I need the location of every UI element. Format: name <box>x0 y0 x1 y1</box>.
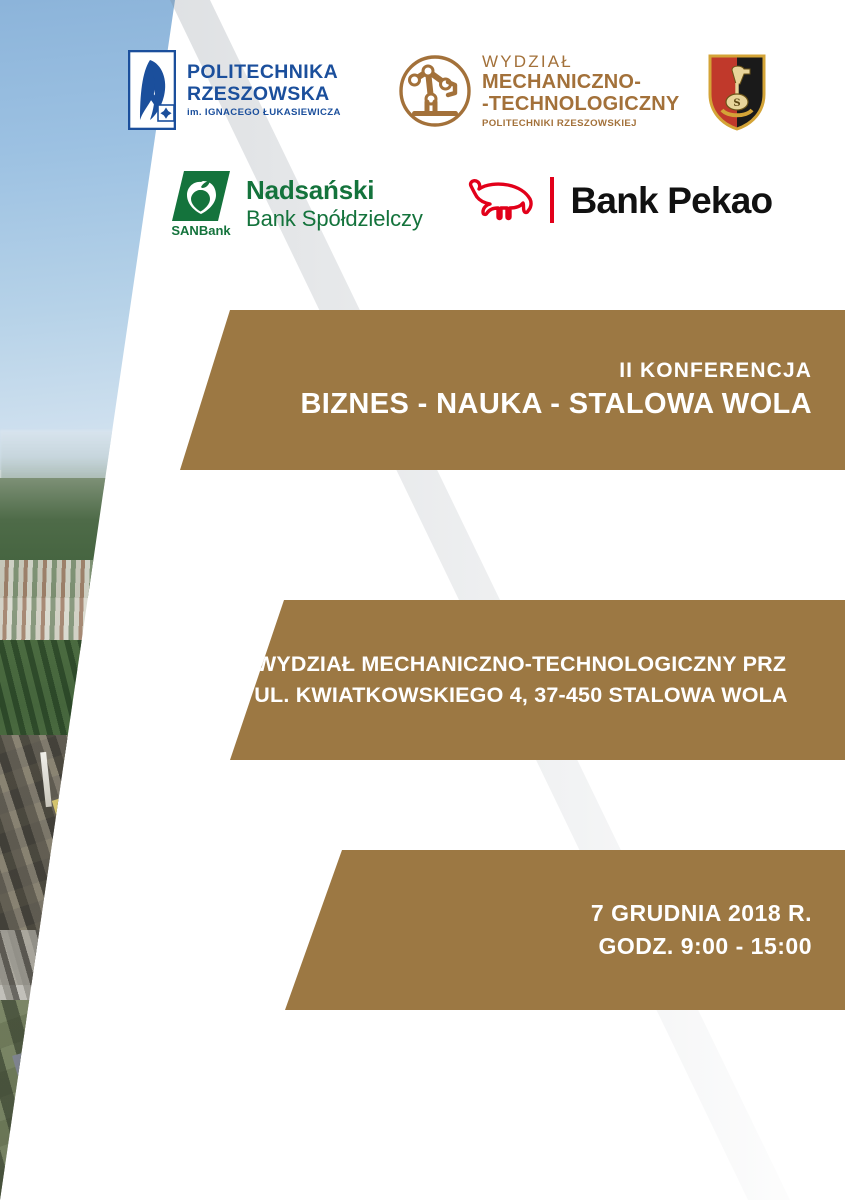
prz-line-3: im. IGNACEGO ŁUKASIEWICZA <box>187 107 341 118</box>
conference-kicker: II KONFERENCJA <box>619 359 812 384</box>
robot-arm-icon <box>398 54 472 128</box>
logo-stalowa-wola-shield[interactable]: S <box>706 50 768 132</box>
venue-line-2: UL. KWIATKOWSKIEGO 4, 37-450 STALOWA WOL… <box>254 683 787 708</box>
wmt-line-2: MECHANICZNO- <box>482 71 679 93</box>
banner-date-time: 7 GRUDNIA 2018 R. GODZ. 9:00 - 15:00 <box>285 850 845 1010</box>
sanbank-apple-icon: SANBank <box>170 169 236 239</box>
conference-headline: BIZNES - NAUKA - STALOWA WOLA <box>300 387 812 421</box>
photo-brick-building <box>33 1089 134 1164</box>
heraldic-shield-icon: S <box>706 50 768 132</box>
sanbank-line-2: Bank Spółdzielczy <box>246 206 423 231</box>
bison-icon <box>460 177 540 223</box>
photo-yellow-building <box>52 766 184 858</box>
logo-politechnika-rzeszowska[interactable]: POLITECHNIKA RZESZOWSKA im. IGNACEGO ŁUK… <box>128 50 341 130</box>
pekao-divider <box>550 177 554 223</box>
wmt-line-3: -TECHNOLOGICZNY <box>482 93 679 115</box>
sponsor-logos-row-1: POLITECHNIKA RZESZOWSKA im. IGNACEGO ŁUK… <box>0 42 845 147</box>
sanbank-wordmark: Nadsański Bank Spółdzielczy <box>246 176 423 231</box>
pekao-wordmark: Bank Pekao <box>571 182 773 219</box>
prz-line-1: POLITECHNIKA <box>187 62 341 84</box>
time-line: GODZ. 9:00 - 15:00 <box>598 933 812 960</box>
sanbank-line-1: Nadsański <box>246 176 423 205</box>
sanbank-icon-label: SANBank <box>171 223 231 238</box>
logo-wydzial-mechaniczno-technologiczny[interactable]: WYDZIAŁ MECHANICZNO- -TECHNOLOGICZNY POL… <box>398 52 679 129</box>
banner-venue-address: WYDZIAŁ MECHANICZNO-TECHNOLOGICZNY PRZ U… <box>230 600 845 760</box>
date-line: 7 GRUDNIA 2018 R. <box>591 900 812 927</box>
wmt-wordmark: WYDZIAŁ MECHANICZNO- -TECHNOLOGICZNY POL… <box>482 52 679 129</box>
photo-main-road <box>52 959 118 1200</box>
logo-nadsanski-bank-spoldzielczy[interactable]: SANBank Nadsański Bank Spółdzielczy <box>170 169 423 239</box>
logo-bank-pekao[interactable]: Bank Pekao <box>460 177 772 223</box>
prz-wordmark: POLITECHNIKA RZESZOWSKA im. IGNACEGO ŁUK… <box>187 62 341 119</box>
wmt-line-1: WYDZIAŁ <box>482 52 679 71</box>
wmt-line-4: POLITECHNIKI RZESZOWSKIEJ <box>482 118 679 129</box>
conference-poster: POLITECHNIKA RZESZOWSKA im. IGNACEGO ŁUK… <box>0 0 845 1200</box>
prz-line-2: RZESZOWSKA <box>187 84 341 106</box>
photo-tree-line <box>112 1016 254 1200</box>
venue-line-1: WYDZIAŁ MECHANICZNO-TECHNOLOGICZNY PRZ <box>256 652 786 677</box>
sponsor-logos-row-2: SANBank Nadsański Bank Spółdzielczy Bank… <box>0 165 845 250</box>
photo-grey-roof-building <box>12 1027 133 1125</box>
photo-secondary-road <box>143 979 189 1200</box>
photo-lower-district <box>0 1000 420 1200</box>
banner-conference-title: II KONFERENCJA BIZNES - NAUKA - STALOWA … <box>180 310 845 470</box>
prz-monogram-icon <box>128 50 176 130</box>
svg-text:S: S <box>733 98 740 109</box>
